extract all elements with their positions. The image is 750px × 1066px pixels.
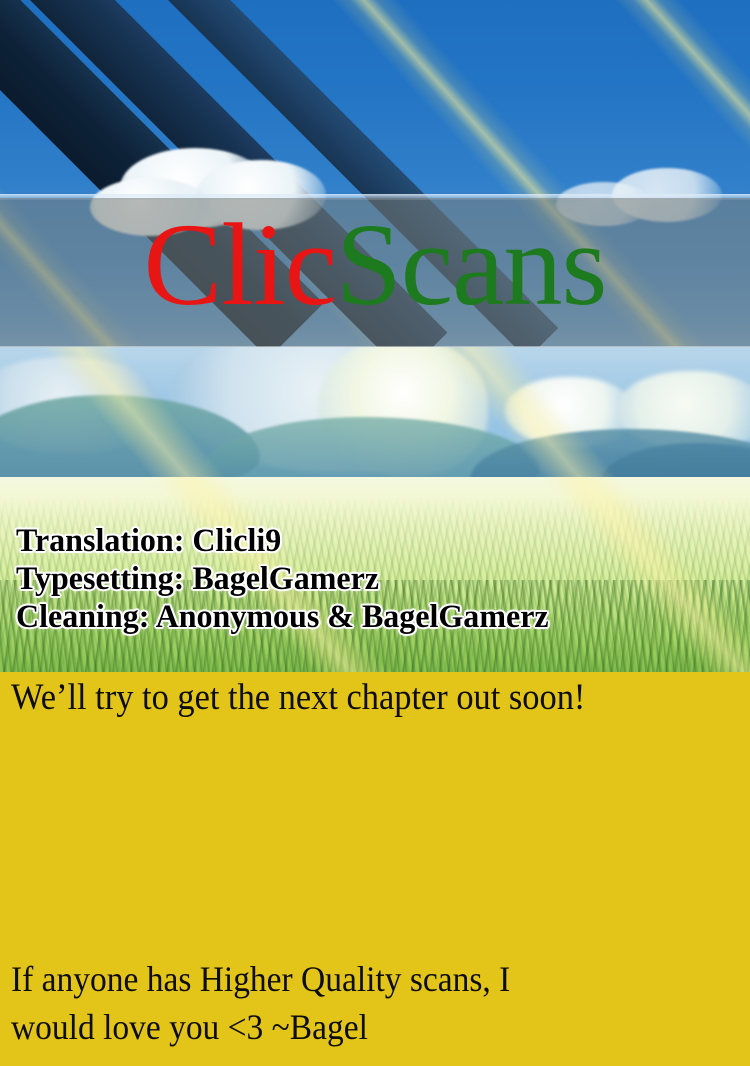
logo-text-scans: Scans <box>336 199 606 330</box>
credit-line-typesetting: Typesetting: BagelGamerz <box>16 560 724 598</box>
yellow-note-area: We’ll try to get the next chapter out so… <box>0 672 750 1066</box>
credit-line-translation: Translation: Clicli9 <box>16 522 724 560</box>
site-logo: ClicScans <box>0 206 750 324</box>
credit-line-cleaning: Cleaning: Anonymous & BagelGamerz <box>16 598 724 636</box>
note-higher-quality-request: If anyone has Higher Quality scans, I wo… <box>11 955 662 1051</box>
note-higher-quality-line-1: If anyone has Higher Quality scans, I <box>11 955 662 1003</box>
scanlation-credits-page: ClicScans Translation: Clicli9 Typesetti… <box>0 0 750 1066</box>
credits-block: Translation: Clicli9 Typesetting: BagelG… <box>16 522 746 636</box>
artwork-illustration: ClicScans Translation: Clicli9 Typesetti… <box>0 0 750 672</box>
note-next-chapter: We’ll try to get the next chapter out so… <box>11 676 690 720</box>
logo-text-clic: Clic <box>144 199 337 330</box>
note-higher-quality-line-2: would love you <3 ~Bagel <box>11 1003 662 1051</box>
